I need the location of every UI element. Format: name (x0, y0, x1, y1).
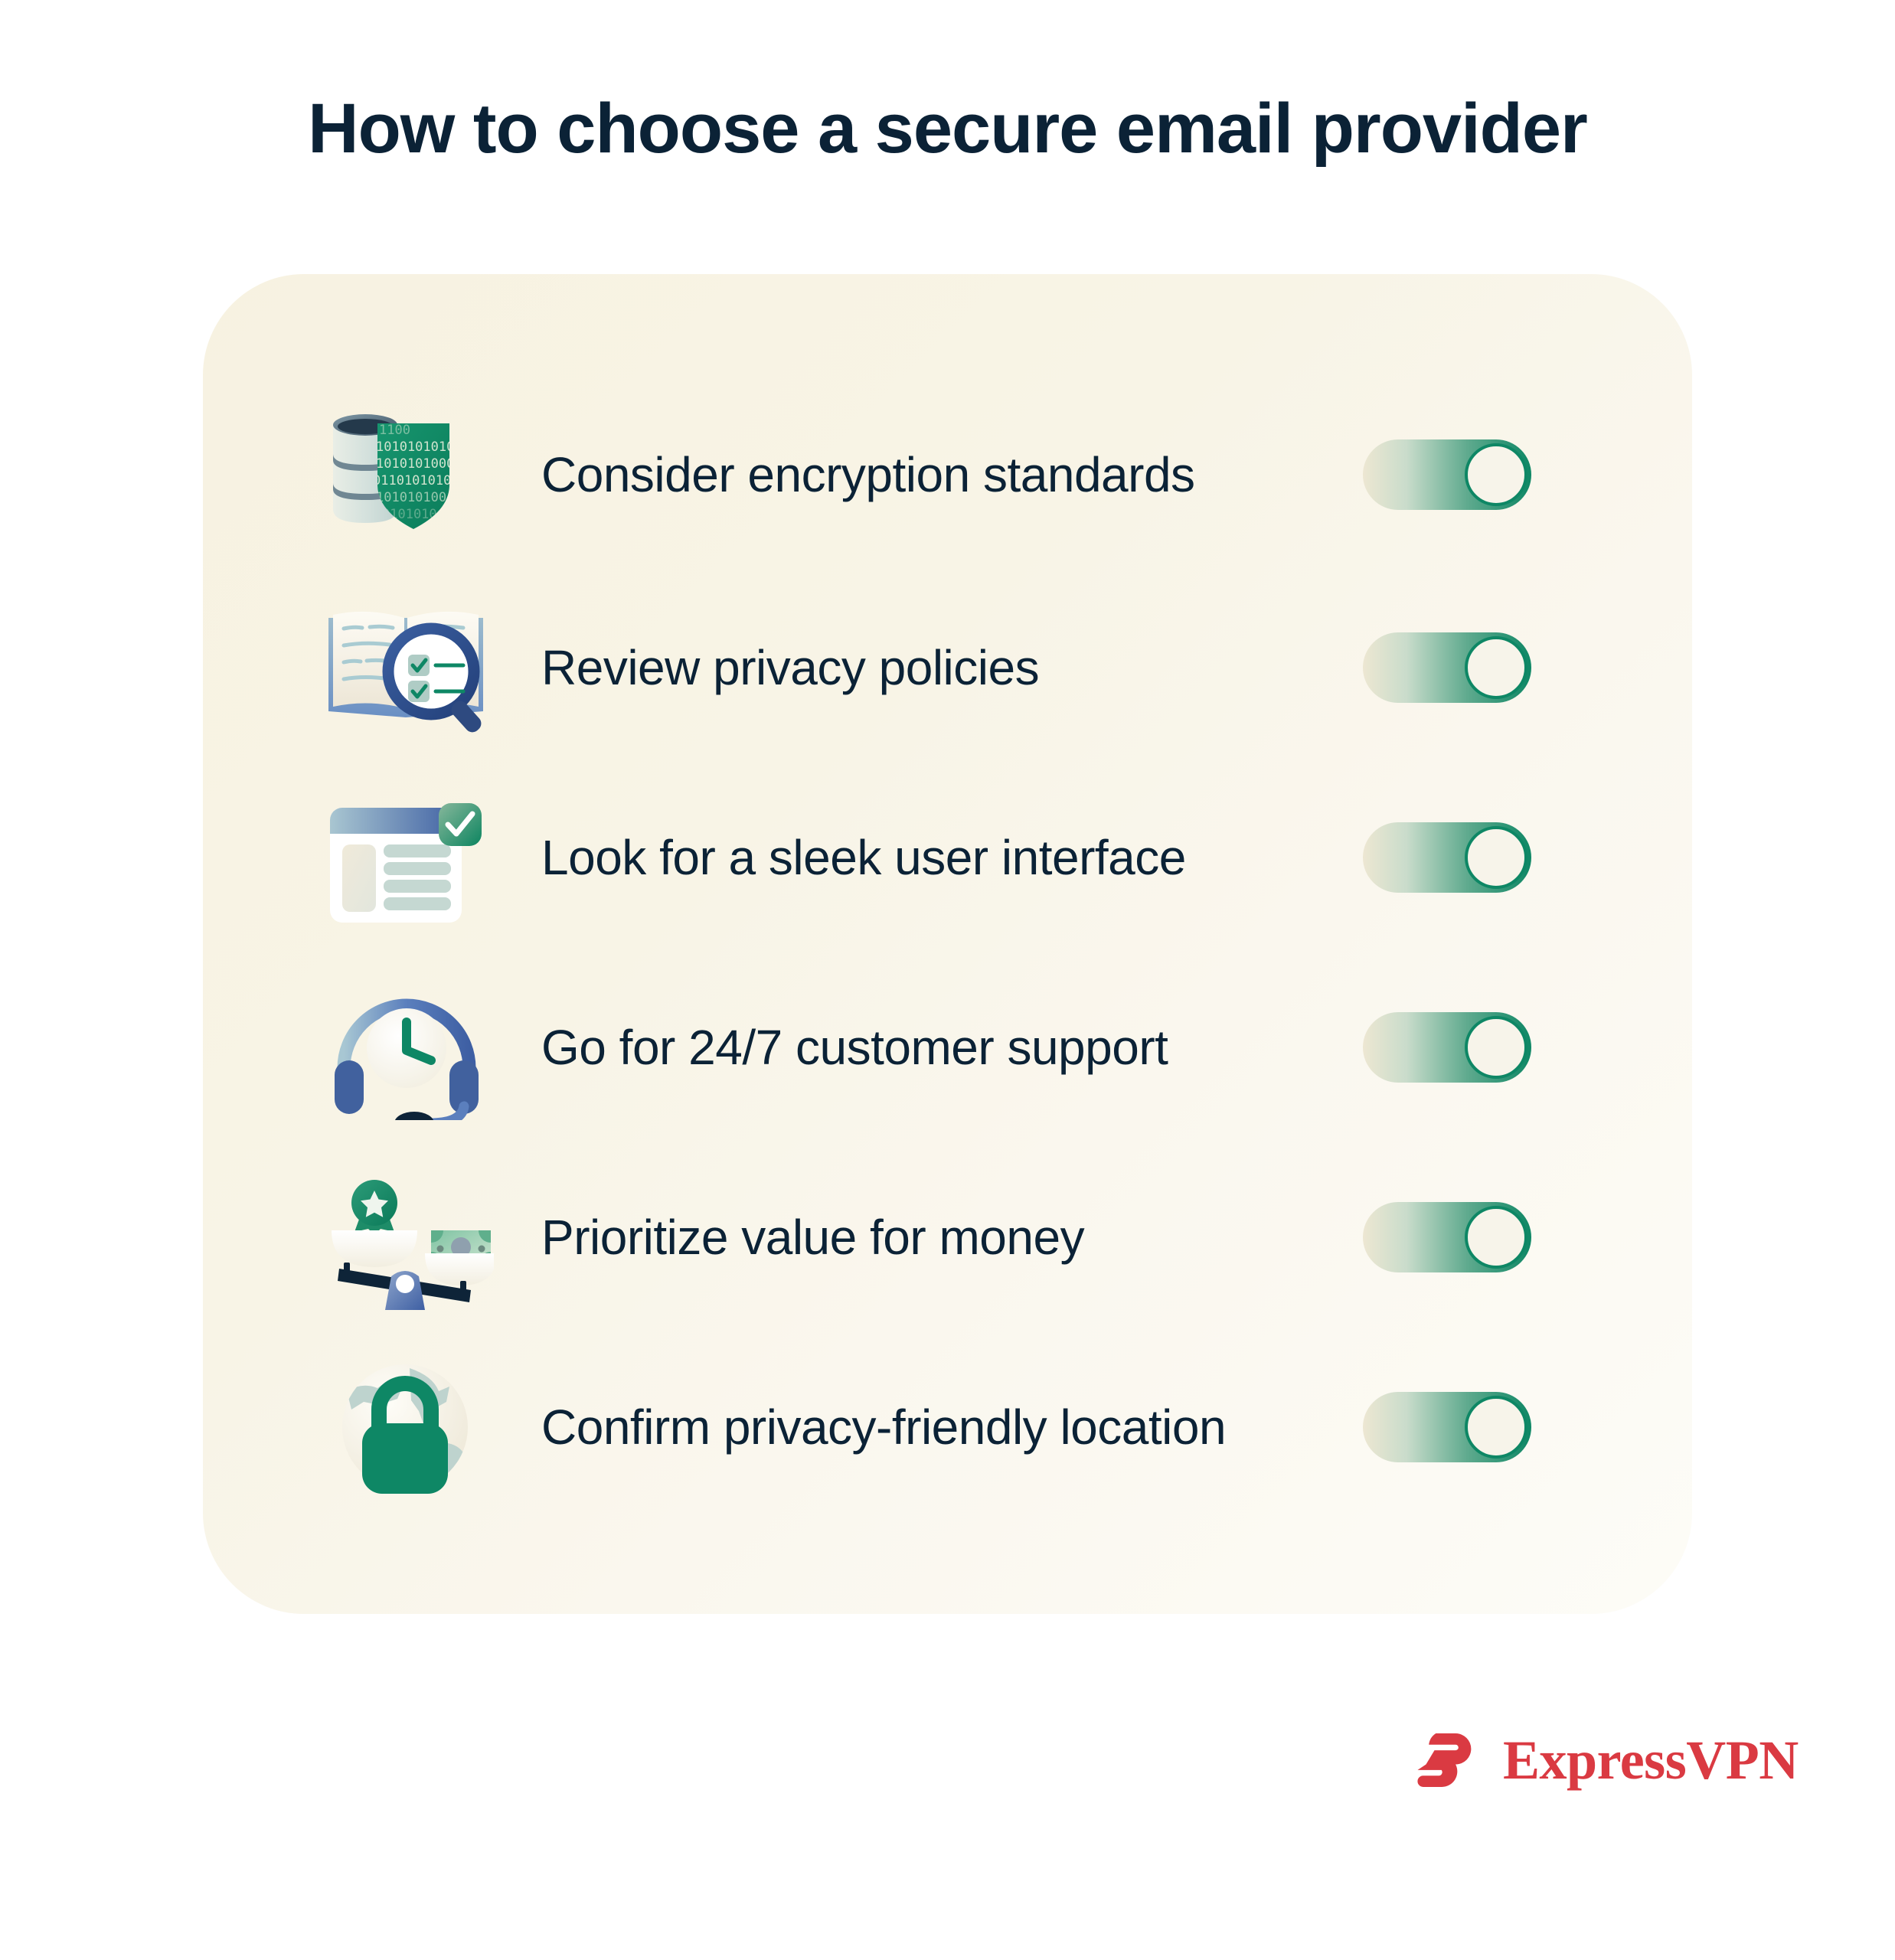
list-item: 1100 10101010101 10101010000 01101010101… (203, 398, 1692, 551)
list-item: Review privacy policies (203, 591, 1692, 744)
svg-text:10101010101: 10101010101 (376, 439, 462, 455)
database-shield-icon: 1100 10101010101 10101010000 01101010101… (318, 402, 494, 547)
list-item-label: Review privacy policies (541, 639, 1363, 696)
list-item-label: Look for a sleek user interface (541, 829, 1363, 886)
list-item-label: Go for 24/7 customer support (541, 1019, 1363, 1076)
book-magnifier-icon (318, 595, 494, 740)
list-item-label: Consider encryption standards (541, 446, 1363, 503)
svg-text:1100: 1100 (379, 423, 410, 438)
toggle-knob (1465, 636, 1527, 699)
list-item: Go for 24/7 customer support (203, 971, 1692, 1124)
toggle-switch[interactable] (1363, 822, 1531, 893)
toggle-switch[interactable] (1363, 1202, 1531, 1272)
expressvpn-e-mark-icon (1413, 1725, 1483, 1795)
list-item: Prioritize value for money (203, 1161, 1692, 1314)
toggle-switch[interactable] (1363, 1012, 1531, 1083)
toggle-switch[interactable] (1363, 632, 1531, 703)
toggle-switch[interactable] (1363, 1392, 1531, 1462)
list-item: Confirm privacy-friendly location (203, 1351, 1692, 1504)
list-item-label: Prioritize value for money (541, 1209, 1363, 1266)
interface-window-check-icon (318, 785, 494, 930)
globe-padlock-icon (318, 1354, 494, 1500)
expressvpn-wordmark: ExpressVPN (1503, 1733, 1799, 1788)
svg-text:10101010000: 10101010000 (376, 456, 462, 472)
balance-scale-medal-money-icon (318, 1165, 494, 1310)
toggle-knob (1465, 443, 1527, 506)
toggle-switch[interactable] (1363, 439, 1531, 510)
toggle-knob (1465, 1016, 1527, 1079)
headset-clock-icon (318, 975, 494, 1120)
page-title: How to choose a secure email provider (0, 90, 1895, 168)
checklist-card: 1100 10101010101 10101010000 01101010101… (203, 274, 1692, 1614)
toggle-knob (1465, 826, 1527, 889)
expressvpn-logo: ExpressVPN (1413, 1725, 1799, 1795)
svg-text:101010100: 101010100 (376, 490, 446, 505)
list-item-label: Confirm privacy-friendly location (541, 1399, 1363, 1455)
svg-text:01101010101: 01101010101 (373, 473, 459, 488)
list-item: Look for a sleek user interface (203, 781, 1692, 934)
toggle-knob (1465, 1396, 1527, 1459)
toggle-knob (1465, 1206, 1527, 1269)
